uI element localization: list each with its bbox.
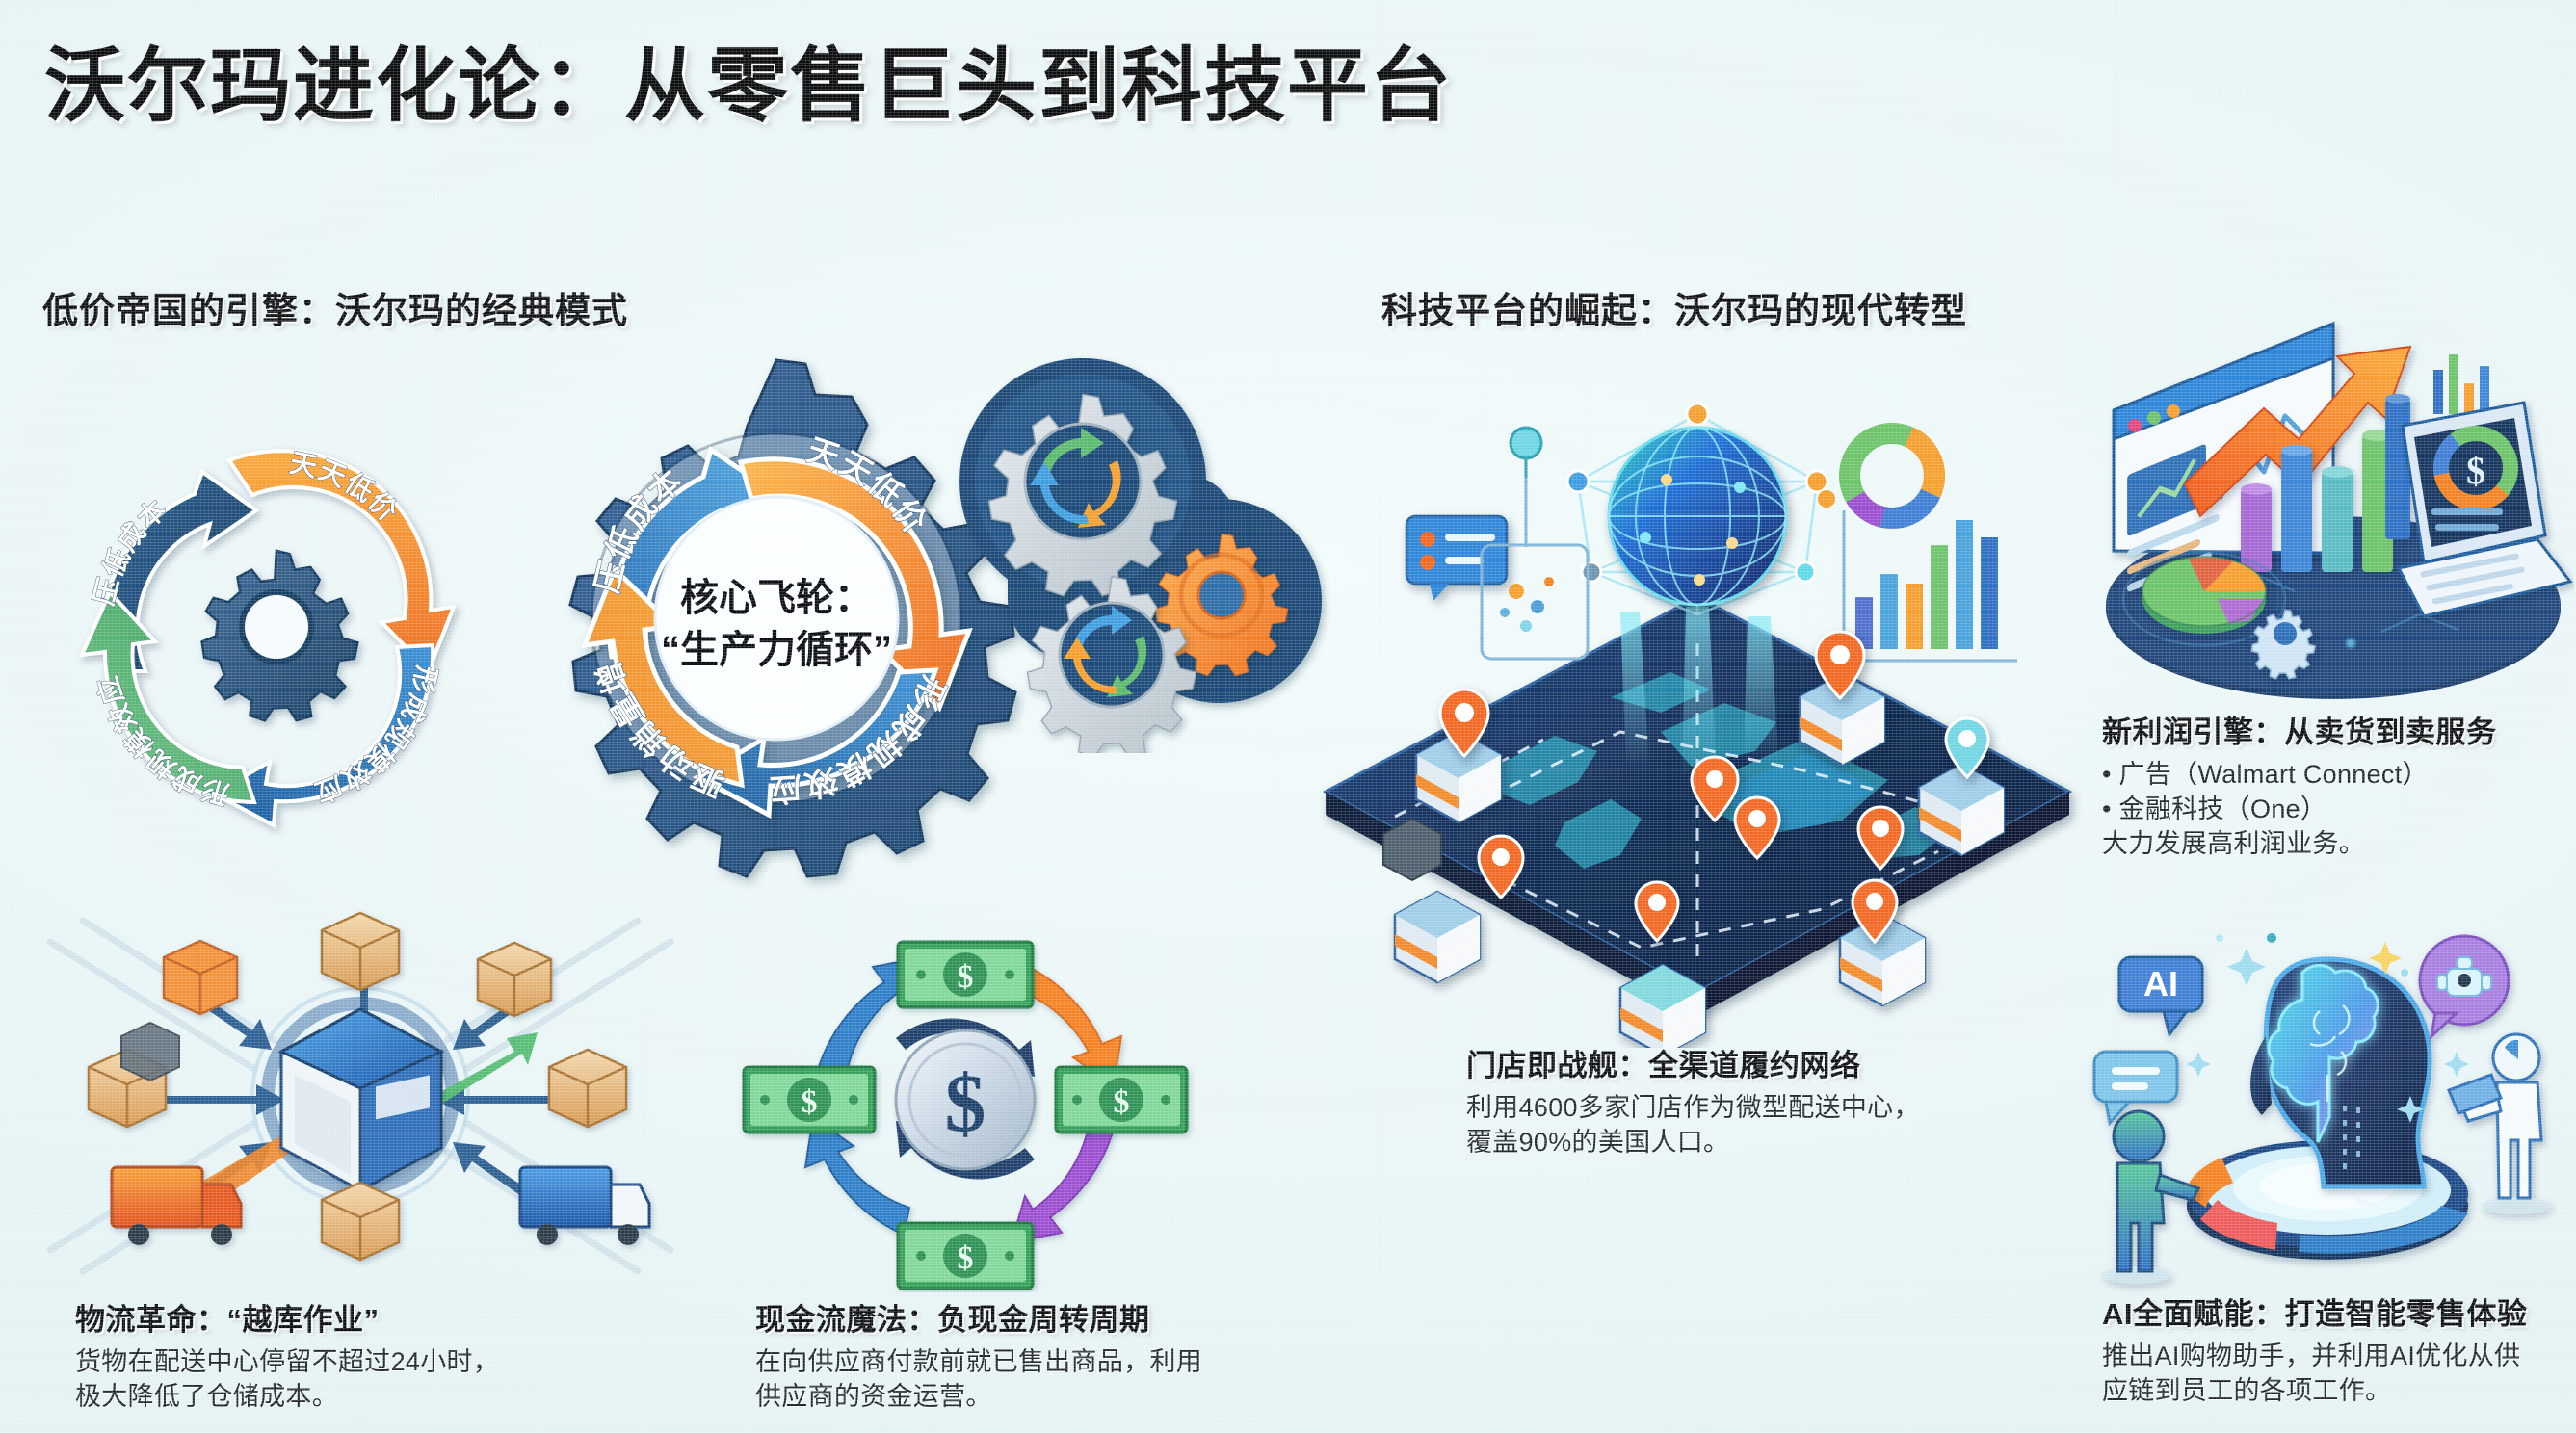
container-icon (121, 1023, 179, 1081)
caption-profit-bullet-2: • 金融科技（One） (2102, 792, 2576, 826)
caption-profit-title: 新利润引擎：从卖货到卖服务 (2102, 715, 2576, 751)
caption-stores-line-1: 利用4600多家门店作为微型配送中心， (1466, 1090, 2160, 1125)
caption-profit-bullet-1: • 广告（Walmart Connect） (2102, 757, 2576, 792)
analytics-illustration: $ (2092, 310, 2574, 707)
caption-logistics-line-2: 极大降低了仓储成本。 (75, 1379, 749, 1414)
pin-marker-icon (1511, 428, 1541, 547)
caption-profit-line-1: 大力发展高利润业务。 (2102, 826, 2576, 861)
ai-badge-label: AI (2143, 964, 2178, 1003)
dollar-coin-icon: $ (896, 1030, 1035, 1169)
globe-network-icon (1567, 404, 1827, 614)
svg-text:$: $ (945, 1056, 986, 1149)
svg-text:$: $ (802, 1084, 818, 1120)
robot-bubble (2420, 936, 2509, 1036)
arrow-blue-1 (805, 1117, 909, 1235)
section-heading-modern: 科技平台的崛起：沃尔玛的现代转型 (1381, 281, 1967, 333)
caption-profit: 新利润引擎：从卖货到卖服务 • 广告（Walmart Connect） • 金融… (2102, 715, 2576, 861)
flywheel-center-line1: 核心飞轮： (680, 577, 873, 619)
ai-badge-bubble: AI (2119, 957, 2202, 1034)
floating-dot (1818, 490, 1835, 508)
caption-stores-body: 利用4600多家门店作为微型配送中心， 覆盖90%的美国人口。 (1466, 1090, 2160, 1159)
truck-blue (520, 1167, 649, 1245)
caption-ai: AI全面赋能：打造智能零售体验 推出AI购物助手，并利用AI优化从供 应链到员工… (2102, 1296, 2576, 1408)
classic-flywheel-small: 压低成本 天天低价 形成规模效应 形成规模效应 (50, 393, 503, 846)
caption-logistics: 物流革命：“越库作业” 货物在配送中心停留不超过24小时， 极大降低了仓储成本。 (75, 1302, 749, 1414)
caption-ai-line-2: 应链到员工的各项工作。 (2102, 1373, 2576, 1408)
crossdock-illustration (33, 896, 688, 1290)
bar-chart-icon (1844, 510, 2017, 661)
caption-stores-title: 门店即战舰：全渠道履约网络 (1466, 1048, 2160, 1084)
caption-cashflow-body: 在向供应商付款前就已售出商品，利用 供应商的资金运营。 (755, 1344, 1391, 1414)
svg-text:$: $ (2466, 449, 2485, 492)
flywheel-center-line2: “生产力循环” (661, 629, 892, 671)
donut-chart-icon (1850, 433, 1934, 518)
caption-profit-body: • 广告（Walmart Connect） • 金融科技（One） 大力发展高利… (2102, 757, 2576, 862)
page-title: 沃尔玛进化论：从零售巨头到科技平台 (44, 21, 1453, 138)
laptop-icon: $ (2399, 403, 2570, 616)
caption-ai-title: AI全面赋能：打造智能零售体验 (2102, 1296, 2576, 1333)
caption-logistics-title: 物流革命：“越库作业” (75, 1302, 749, 1339)
caption-logistics-line-1: 货物在配送中心停留不超过24小时， (75, 1344, 749, 1379)
chat-card-icon (1406, 516, 1507, 601)
caption-cashflow-line-1: 在向供应商付款前就已售出商品，利用 (755, 1344, 1391, 1379)
svg-text:$: $ (958, 959, 974, 995)
gear-cluster (940, 349, 1345, 753)
caption-cashflow: 现金流魔法：负现金周转周期 在向供应商付款前就已售出商品，利用 供应商的资金运营… (755, 1302, 1391, 1414)
gear-icon (202, 551, 358, 720)
caption-ai-line-1: 推出AI购物助手，并利用AI优化从供 (2102, 1339, 2576, 1373)
caption-cashflow-title: 现金流魔法：负现金周转周期 (755, 1302, 1391, 1339)
svg-text:$: $ (1114, 1084, 1130, 1120)
cashflow-illustration: $ $ $ (724, 907, 1206, 1292)
svg-text:$: $ (958, 1240, 974, 1276)
section-heading-classic: 低价帝国的引擎：沃尔玛的经典模式 (42, 281, 628, 333)
mini-bar-chart (2433, 354, 2489, 414)
caption-logistics-body: 货物在配送中心停留不超过24小时， 极大降低了仓储成本。 (75, 1344, 749, 1414)
infographic-canvas: 沃尔玛进化论：从零售巨头到科技平台 低价帝国的引擎：沃尔玛的经典模式 科技平台的… (0, 0, 2576, 1433)
omnichannel-map-illustration (1302, 354, 2092, 1048)
caption-stores: 门店即战舰：全渠道履约网络 利用4600多家门店作为微型配送中心， 覆盖90%的… (1466, 1048, 2160, 1159)
caption-cashflow-line-2: 供应商的资金运营。 (755, 1379, 1391, 1414)
caption-ai-body: 推出AI购物助手，并利用AI优化从供 应链到员工的各项工作。 (2102, 1339, 2576, 1408)
caption-stores-line-2: 覆盖90%的美国人口。 (1466, 1125, 2160, 1159)
